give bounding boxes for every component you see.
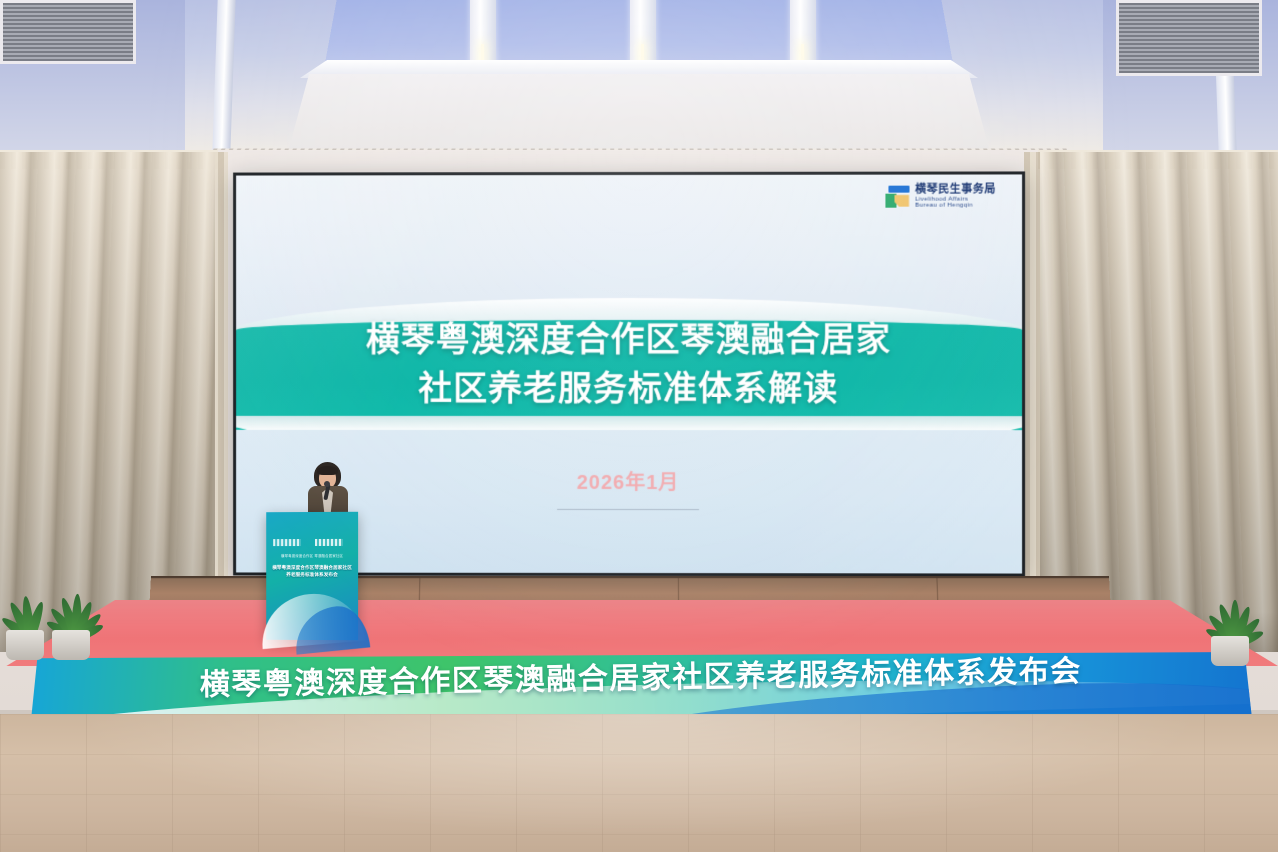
floor-reflection [0,714,1278,852]
podium-header-text: 横琴粤澳深度合作区 琴澳融合居家社区 [272,554,352,559]
ceiling [0,0,1278,152]
floor [0,714,1278,852]
hengqin-bureau-logo-icon [885,185,910,209]
slide-title-line2: 社区养老服务标准体系解读 [236,365,1022,413]
podium-logos [273,538,351,547]
potted-plant-right [1186,566,1274,666]
speaker-person [300,462,356,518]
ceiling-vent-grille-right [1116,0,1262,76]
podium-title-line2: 养老服务标准体系发布会 [271,571,353,578]
logo-english-line2: Bureau of Hengqin [915,203,996,210]
ceiling-soffit [288,74,990,152]
ceiling-pilaster-left [212,0,235,152]
podium-title-text: 横琴粤澳深度合作区琴澳融合居家社区 养老服务标准体系发布会 [271,564,353,578]
logo-chinese-name: 横琴民生事务局 [915,185,996,197]
slide-logo: 横琴民生事务局 Livelihood Affairs Bureau of Hen… [885,185,996,210]
slide-title-line1: 横琴粤澳深度合作区琴澳融合居家 [236,316,1022,364]
podium-lectern: 横琴粤澳深度合作区 琴澳融合居家社区 横琴粤澳深度合作区琴澳融合居家社区 养老服… [266,512,358,640]
slide-title: 横琴粤澳深度合作区琴澳融合居家 社区养老服务标准体系解读 [236,316,1022,413]
podium-title-line1: 横琴粤澳深度合作区琴澳融合居家社区 [271,564,353,571]
ceiling-vent-grille-left [0,0,136,64]
slide-divider-line [557,509,698,510]
potted-plant-left [28,562,114,660]
conference-stage-photo: 横琴民生事务局 Livelihood Affairs Bureau of Hen… [0,0,1278,852]
